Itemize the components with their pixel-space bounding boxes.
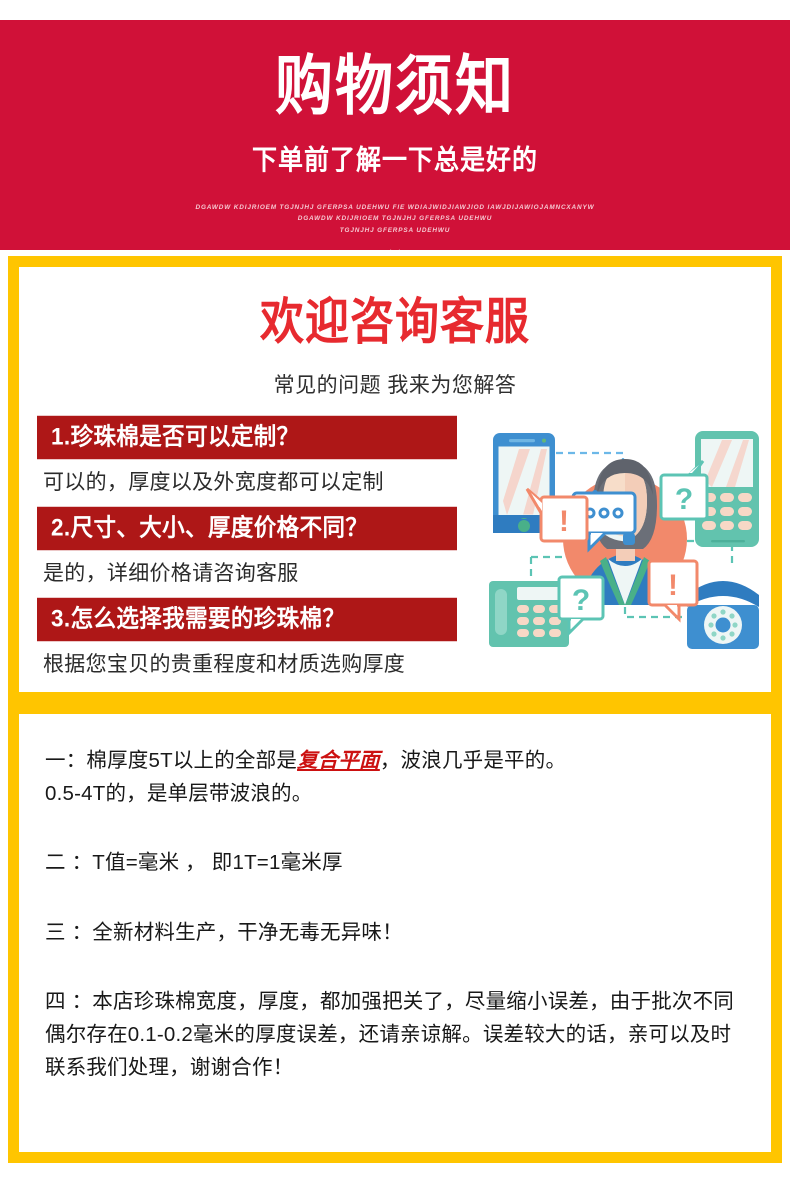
svg-text:?: ? <box>572 584 590 617</box>
desk-phone-icon <box>489 581 569 647</box>
note-1-post: ，波浪几乎是平的。 <box>380 749 566 772</box>
faq-answer-3: 根据您宝贝的贵重程度和材质选购厚度 <box>37 640 457 690</box>
note-1-line2: 0.5-4T的，是单层带波浪的。 <box>45 782 312 805</box>
latin-line-2: DGAWDW KDIJRIOEM TGJNJHJ GFERPSA UDEHWU <box>0 213 790 224</box>
svg-text:!: ! <box>559 505 569 538</box>
notes-list: 一：棉厚度5T以上的全部是复合平面，波浪几乎是平的。 0.5-4T的，是单层带波… <box>19 714 771 1084</box>
hero-subtitle: 下单前了解一下总是好的 <box>0 138 790 178</box>
faq-body: 1.珍珠棉是否可以定制？ 可以的，厚度以及外宽度都可以定制 2.尺寸、大小、厚度… <box>19 417 771 717</box>
hero-banner: 购物须知 下单前了解一下总是好的 DGAWDW KDIJRIOEM TGJNJH… <box>0 20 790 250</box>
faq-subtitle: 常见的问题 我来为您解答 <box>19 369 771 399</box>
notes-panel: 一：棉厚度5T以上的全部是复合平面，波浪几乎是平的。 0.5-4T的，是单层带波… <box>8 703 782 1163</box>
svg-text:?: ? <box>675 483 693 516</box>
svg-text:!: ! <box>668 569 678 602</box>
faq-question-1: 1.珍珠棉是否可以定制？ <box>37 416 457 459</box>
faq-question-2: 2.尺寸、大小、厚度价格不同？ <box>37 507 457 550</box>
note-item-1: 一：棉厚度5T以上的全部是复合平面，波浪几乎是平的。 0.5-4T的，是单层带波… <box>45 744 745 810</box>
faq-answer-1: 可以的，厚度以及外宽度都可以定制 <box>37 458 457 508</box>
note-item-4: 四 ：本店珍珠棉宽度，厚度，都加强把关了，尽量缩小误差，由于批次不同偶尔存在0.… <box>45 985 745 1085</box>
note-4-text: 四 ：本店珍珠棉宽度，厚度，都加强把关了，尽量缩小误差，由于批次不同偶尔存在0.… <box>45 990 734 1079</box>
latin-line-3: TGJNJHJ GFERPSA UDEHWU <box>0 225 790 236</box>
faq-answer-2: 是的，详细价格请咨询客服 <box>37 549 457 599</box>
note-1-highlight: 复合平面 <box>297 749 380 772</box>
faq-question-3: 3.怎么选择我需要的珍珠棉？ <box>37 598 457 641</box>
faq-title: 欢迎咨询客服 <box>19 281 771 353</box>
note-2-text: 二 ：T值=毫米 ， 即1T=1毫米厚 <box>45 851 343 874</box>
latin-line-1: DGAWDW KDIJRIOEM TGJNJHJ GFERPSA UDEHWU … <box>0 202 790 213</box>
product-detail-page: 购物须知 下单前了解一下总是好的 DGAWDW KDIJRIOEM TGJNJH… <box>0 0 790 1184</box>
note-item-3: 三 ：全新材料生产，干净无毒无异味！ <box>45 916 745 949</box>
hero-decorative-latin-text: DGAWDW KDIJRIOEM TGJNJHJ GFERPSA UDEHWU … <box>0 202 790 236</box>
note-1-pre: 一：棉厚度5T以上的全部是 <box>45 749 297 772</box>
faq-list: 1.珍珠棉是否可以定制？ 可以的，厚度以及外宽度都可以定制 2.尺寸、大小、厚度… <box>37 417 457 690</box>
note-item-2: 二 ：T值=毫米 ， 即1T=1毫米厚 <box>45 846 745 879</box>
note-3-text: 三 ：全新材料生产，干净无毒无异味！ <box>45 921 403 944</box>
customer-service-illustration: ! ? ? <box>473 409 763 659</box>
faq-panel: 欢迎咨询客服 常见的问题 我来为您解答 1.珍珠棉是否可以定制？ 可以的，厚度以… <box>8 256 782 703</box>
page-title: 购物须知 <box>0 54 790 119</box>
